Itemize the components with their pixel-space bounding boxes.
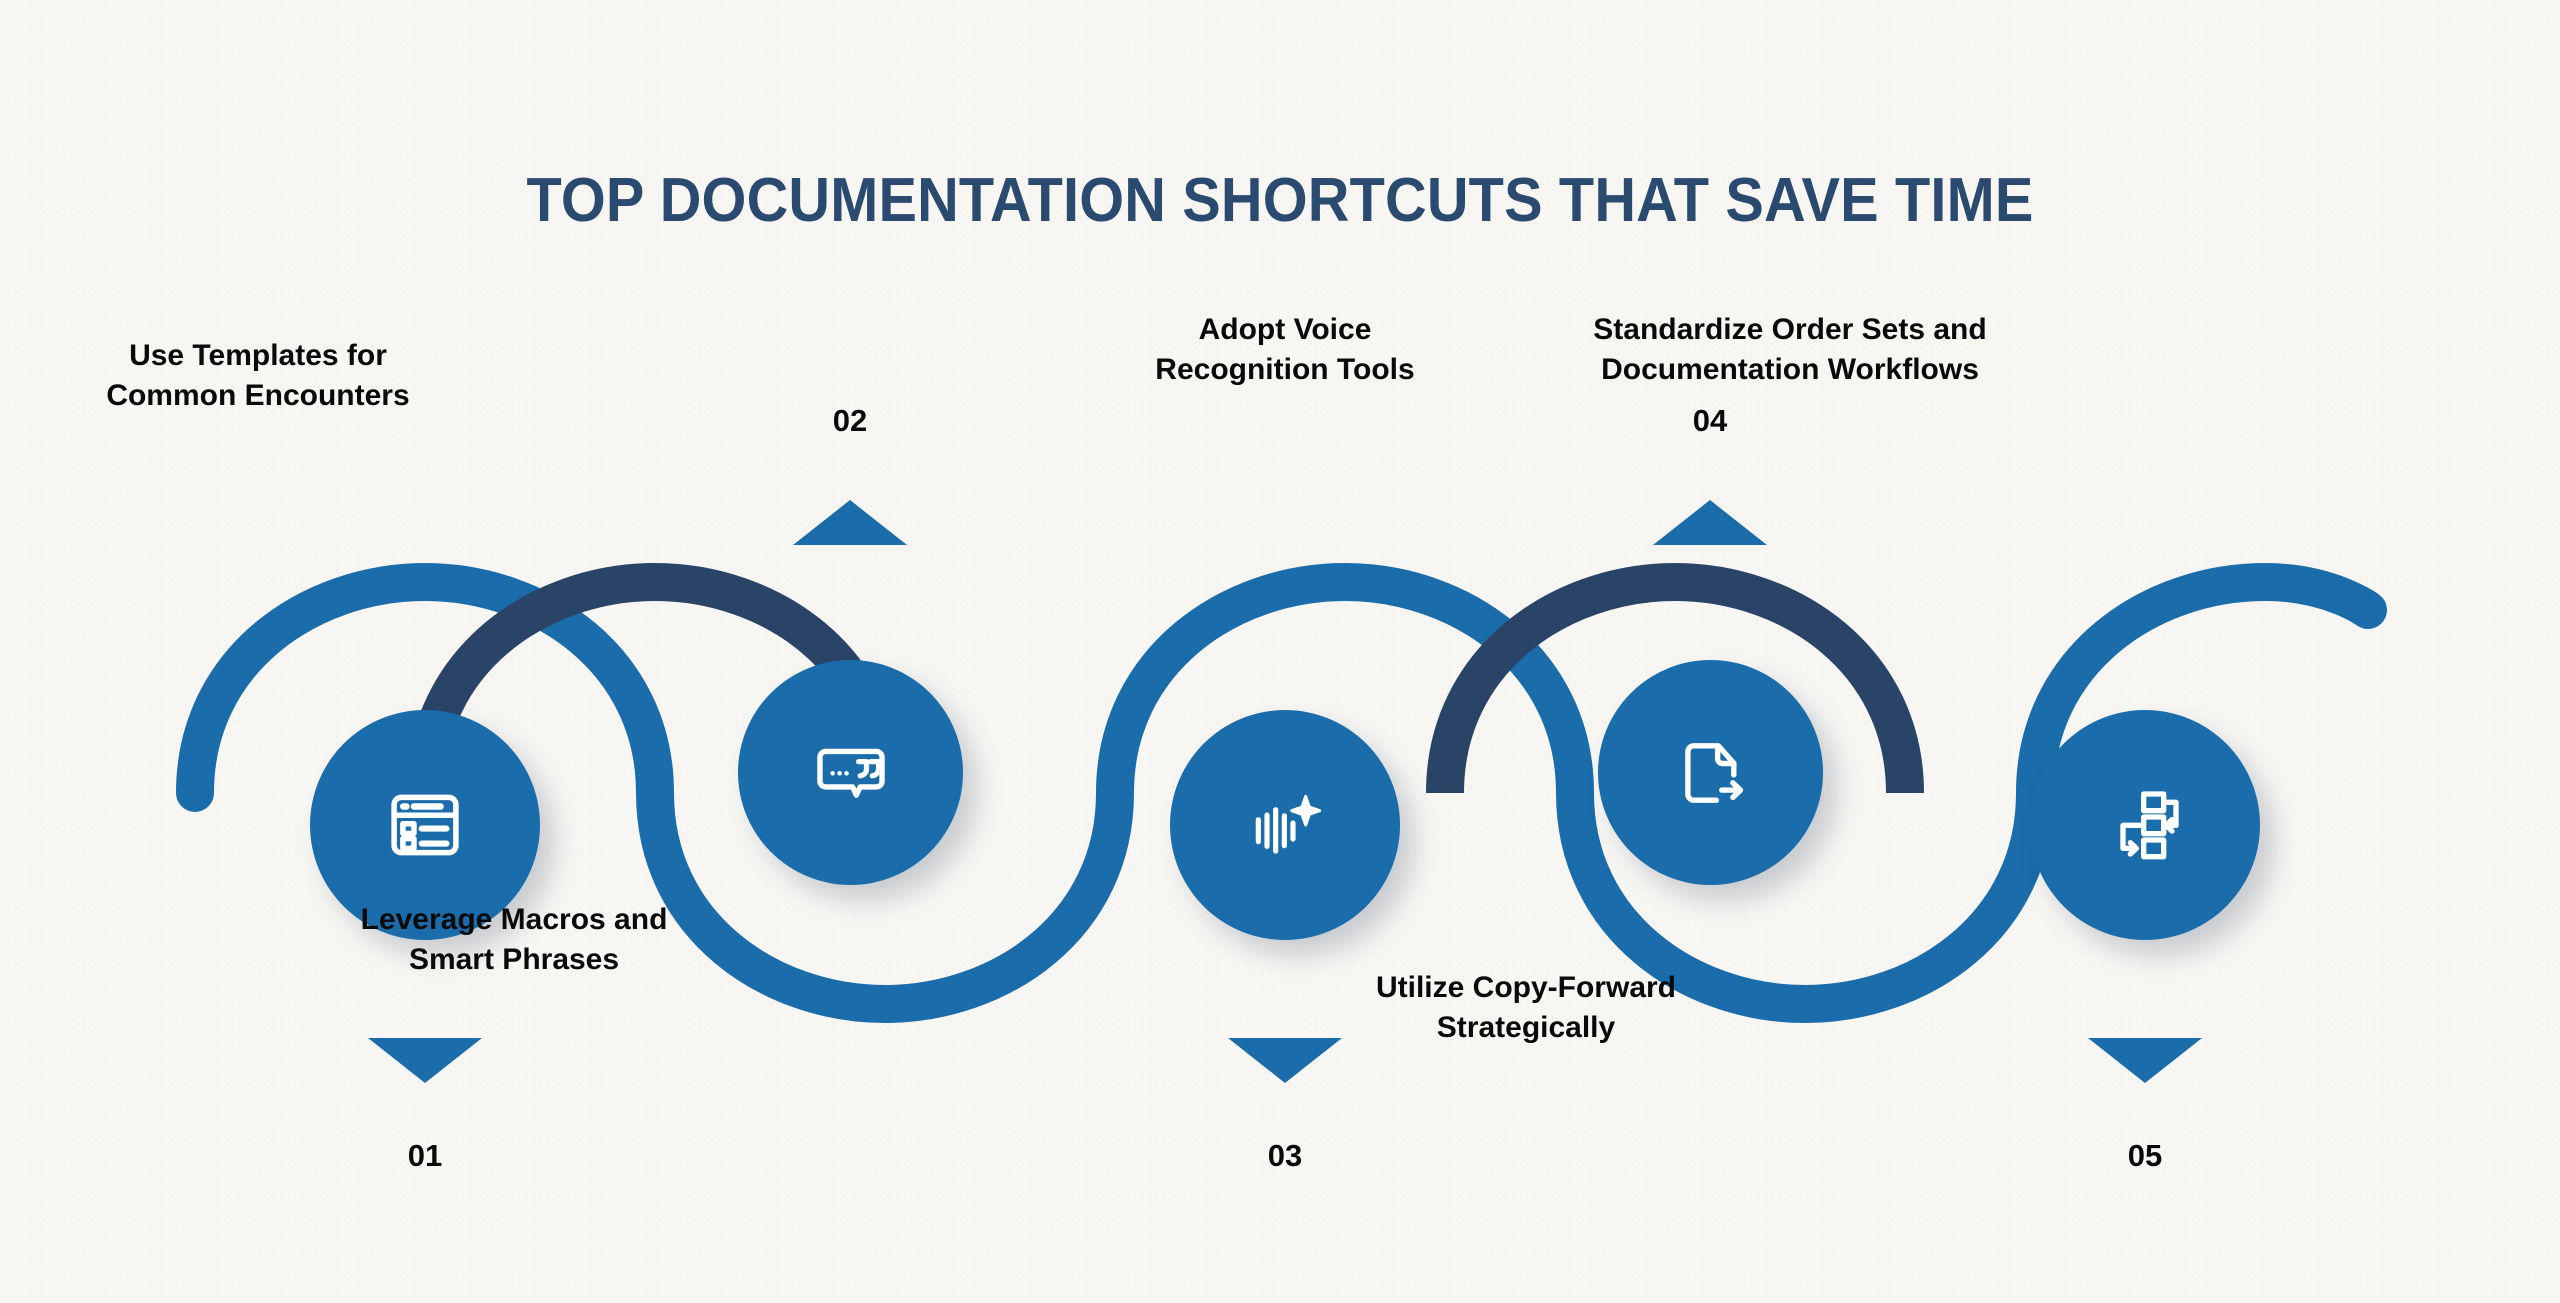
step-number-3: 03 (1185, 1138, 1385, 1174)
step-number-4: 04 (1610, 403, 1810, 439)
document-forward-arrow-icon (1673, 735, 1749, 811)
page-title: TOP DOCUMENTATION SHORTCUTS THAT SAVE TI… (90, 165, 2471, 236)
step-icon-circle-2[interactable] (738, 660, 963, 885)
step-arrow-up-4 (1653, 500, 1767, 545)
infographic-canvas: TOP DOCUMENTATION SHORTCUTS THAT SAVE TI… (0, 0, 2560, 1303)
step-number-1: 01 (325, 1138, 525, 1174)
step-label-5: Standardize Order Sets and Documentation… (1540, 310, 2040, 389)
step-label-3: Adopt Voice Recognition Tools (1035, 310, 1535, 389)
template-layout-icon (386, 786, 464, 864)
step-arrow-down-1 (368, 1038, 482, 1083)
speech-bubble-quote-icon (813, 735, 889, 811)
step-number-5: 05 (2045, 1138, 2245, 1174)
step-icon-circle-3[interactable] (1170, 710, 1400, 940)
step-arrow-down-5 (2088, 1038, 2202, 1083)
step-label-1: Use Templates for Common Encounters (8, 336, 508, 415)
step-number-2: 02 (750, 403, 950, 439)
step-icon-circle-5[interactable] (2030, 710, 2260, 940)
step-label-4: Utilize Copy-Forward Strategically (1276, 968, 1776, 1047)
workflow-diagram-icon (2105, 785, 2185, 865)
step-icon-circle-4[interactable] (1598, 660, 1823, 885)
voice-waveform-sparkle-icon (1245, 785, 1325, 865)
step-arrow-up-2 (793, 500, 907, 545)
step-label-2: Leverage Macros and Smart Phrases (264, 900, 764, 979)
